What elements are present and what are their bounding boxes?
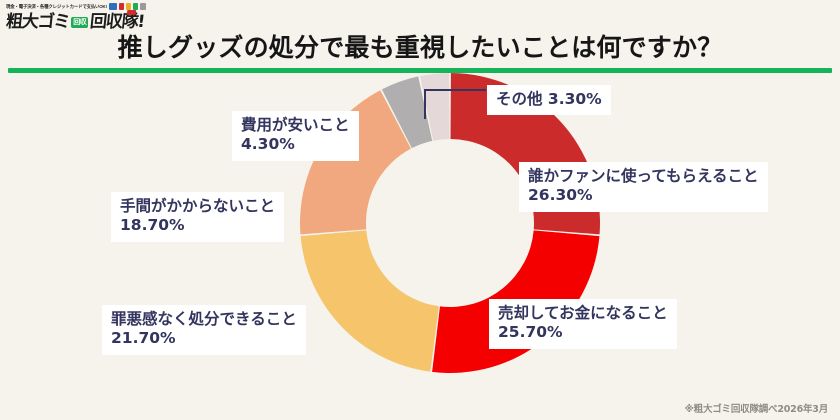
source-note: ※粗大ゴミ回収隊調べ2026年3月	[685, 401, 828, 415]
slice-label-sell-value: 25.70%	[498, 323, 668, 342]
slice-label-fan-text: 誰かファンに使ってもらえること	[528, 167, 759, 185]
payment-chip-yellow-icon	[126, 3, 131, 10]
slice-label-low-cost-value: 4.30%	[241, 135, 350, 154]
slice-label-other-value: 3.30%	[548, 90, 602, 108]
payment-chip-gray-icon	[140, 3, 146, 10]
slice-label-guilt-free-value: 21.70%	[111, 329, 297, 348]
slice-label-sell-text: 売却してお金になること	[498, 304, 668, 322]
slice-label-guilt-free-text: 罪悪感なく処分できること	[111, 310, 297, 328]
slice-label-low-cost: 費用が安いこと 4.30%	[232, 111, 359, 161]
brand-tagline-row: 現金・電子決済・各種クレジットカードで支払いOK!	[6, 2, 146, 11]
page-title: 推しグッズの処分で最も重視したいことは何ですか？	[0, 28, 840, 64]
payment-chip-green-icon	[133, 3, 138, 10]
slice-label-no-effort-value: 18.70%	[120, 216, 275, 235]
slice-label-other-text: その他	[496, 90, 543, 108]
donut-slice	[301, 230, 439, 371]
payment-chip-blue-icon	[109, 3, 117, 10]
brand-logo[interactable]: 現金・電子決済・各種クレジットカードで支払いOK! 粗大ゴミ 回収 回収隊!	[6, 2, 146, 31]
recycle-badge-icon: 回収	[71, 17, 88, 28]
brand-accent-icon	[127, 10, 137, 15]
slice-label-no-effort-text: 手間がかからないこと	[120, 197, 275, 215]
slice-label-fan-value: 26.30%	[528, 186, 759, 205]
payment-chip-red-icon	[119, 3, 124, 10]
slice-label-fan: 誰かファンに使ってもらえること 26.30%	[519, 162, 768, 212]
slice-label-no-effort: 手間がかからないこと 18.70%	[111, 192, 284, 242]
slice-label-low-cost-text: 費用が安いこと	[241, 116, 350, 134]
brand-tagline: 現金・電子決済・各種クレジットカードで支払いOK!	[6, 2, 107, 11]
slice-label-sell: 売却してお金になること 25.70%	[489, 299, 677, 349]
slice-label-guilt-free: 罪悪感なく処分できること 21.70%	[102, 305, 306, 355]
slice-label-other: その他 3.30%	[487, 85, 611, 115]
other-leader-line	[424, 89, 486, 119]
donut-chart: その他 3.30% 誰かファンに使ってもらえること 26.30% 売却してお金に…	[0, 73, 840, 420]
page-header: 現金・電子決済・各種クレジットカードで支払いOK! 粗大ゴミ 回収 回収隊! 推…	[0, 0, 840, 68]
